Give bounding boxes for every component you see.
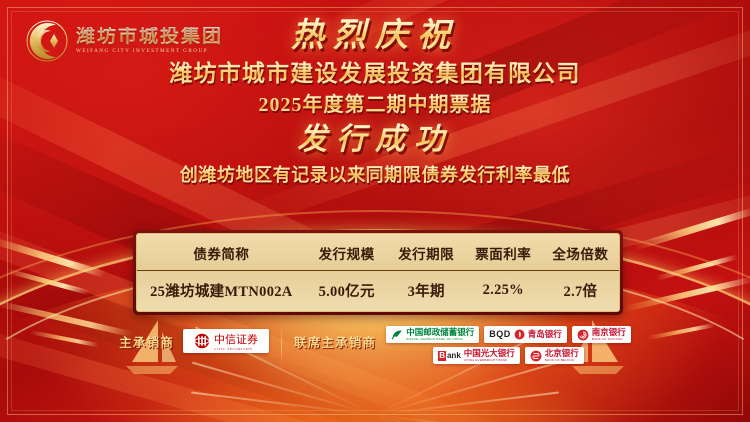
table-header-row: 债券简称 发行规模 发行期限 票面利率 全场倍数 — [137, 234, 619, 271]
postal-savings-bank-name-cn: 中国邮政储蓄银行 — [406, 328, 474, 337]
company-logo: 潍坊市城投集团 WEIFANG CITY INVESTMENT GROUP — [26, 20, 223, 62]
postal-savings-bank-logo-icon — [391, 329, 403, 341]
cell-issue-size: 5.00亿元 — [306, 271, 388, 312]
record-rate-subtitle: 创潍坊地区有记录以来同期限债券发行利率最低 — [180, 162, 571, 188]
bank-of-beijing-name-cn: 北京银行 — [545, 349, 579, 358]
column-header-issue-term: 发行期限 — [388, 234, 465, 271]
bond-details-table: 债券简称 发行规模 发行期限 票面利率 全场倍数 25潍坊城建MTN002A 5… — [137, 234, 619, 311]
bank-of-nanjing-logo-icon — [577, 329, 589, 341]
bank-of-beijing-name-en: BANK OF BEIJING — [545, 359, 579, 362]
joint-underwriters-label: 联席主承销商 — [294, 326, 376, 351]
citic-securities-logo-icon — [194, 333, 210, 349]
bank-of-nanjing-name-cn: 南京银行 — [592, 328, 626, 337]
postal-savings-bank-name-en: POSTAL SAVINGS BANK OF CHINA — [406, 338, 474, 341]
weifang-crescent-emblem-icon — [26, 20, 68, 62]
joint-underwriter-row-2: B ank 中国光大银行 CHINA EVERBRIGHT BANK 北京银行 — [386, 347, 631, 364]
bank-of-qingdao-logo-icon — [514, 329, 525, 340]
celebration-banner: 潍坊市城投集团 WEIFANG CITY INVESTMENT GROUP 热烈… — [0, 0, 750, 422]
everbright-bank-name-en: CHINA EVERBRIGHT BANK — [464, 359, 515, 362]
company-logo-name-en: WEIFANG CITY INVESTMENT GROUP — [76, 49, 223, 54]
table-row: 25潍坊城建MTN002A 5.00亿元 3年期 2.25% 2.7倍 — [137, 271, 619, 312]
bond-details-panel: 债券简称 发行规模 发行期限 票面利率 全场倍数 25潍坊城建MTN002A 5… — [133, 230, 623, 315]
bank-of-qingdao-name-cn: 青岛银行 — [528, 330, 562, 339]
column-header-coupon-rate: 票面利率 — [465, 234, 542, 271]
bank-of-qingdao-name-en: BQD — [489, 330, 511, 339]
bank-of-qingdao-logo-card: BQD 青岛银行 — [484, 326, 567, 343]
citic-securities-logo-card: 中信证券 CITIC SECURITIES — [183, 329, 269, 353]
everbright-bank-logo-card: B ank 中国光大银行 CHINA EVERBRIGHT BANK — [433, 347, 520, 364]
celebrate-title: 热烈庆祝 — [291, 16, 459, 56]
underwriter-divider — [281, 326, 282, 366]
bank-of-beijing-logo-icon — [530, 350, 542, 362]
underwriters-section: 主承销商 中信证券 CITIC SECURITIES 联席主承销商 — [0, 326, 750, 366]
company-full-name: 潍坊市城市建设发展投资集团有限公司 — [169, 59, 580, 89]
citic-securities-name-en: CITIC SECURITIES — [214, 347, 258, 351]
everbright-bank-logo-icon: B — [438, 351, 446, 361]
company-logo-name-cn: 潍坊市城投集团 — [76, 27, 223, 46]
cell-coupon-rate: 2.25% — [465, 271, 542, 312]
bond-issue-name: 2025年度第二期中期票据 — [259, 91, 492, 119]
lead-underwriter-label: 主承销商 — [119, 326, 174, 351]
postal-savings-bank-logo-card: 中国邮政储蓄银行 POSTAL SAVINGS BANK OF CHINA — [386, 326, 479, 343]
cell-subscription-multiple: 2.7倍 — [542, 271, 619, 312]
bank-of-beijing-logo-card: 北京银行 BANK OF BEIJING — [525, 347, 584, 364]
column-header-issue-size: 发行规模 — [306, 234, 388, 271]
cell-issue-term: 3年期 — [388, 271, 465, 312]
cell-bond-name: 25潍坊城建MTN002A — [137, 271, 306, 312]
bank-of-nanjing-logo-card: 南京银行 BANK OF NANJING — [572, 326, 631, 343]
column-header-bond-name: 债券简称 — [137, 234, 306, 271]
bank-of-nanjing-name-en: BANK OF NANJING — [592, 338, 626, 341]
joint-underwriter-logos: 中国邮政储蓄银行 POSTAL SAVINGS BANK OF CHINA BQ… — [386, 326, 631, 364]
everbright-bank-name-cn: 中国光大银行 — [464, 349, 515, 358]
citic-securities-name-cn: 中信证券 — [214, 331, 258, 347]
column-header-subscription-multiple: 全场倍数 — [542, 234, 619, 271]
issue-success-title: 发行成功 — [297, 121, 453, 159]
joint-underwriter-row-1: 中国邮政储蓄银行 POSTAL SAVINGS BANK OF CHINA BQ… — [386, 326, 631, 343]
